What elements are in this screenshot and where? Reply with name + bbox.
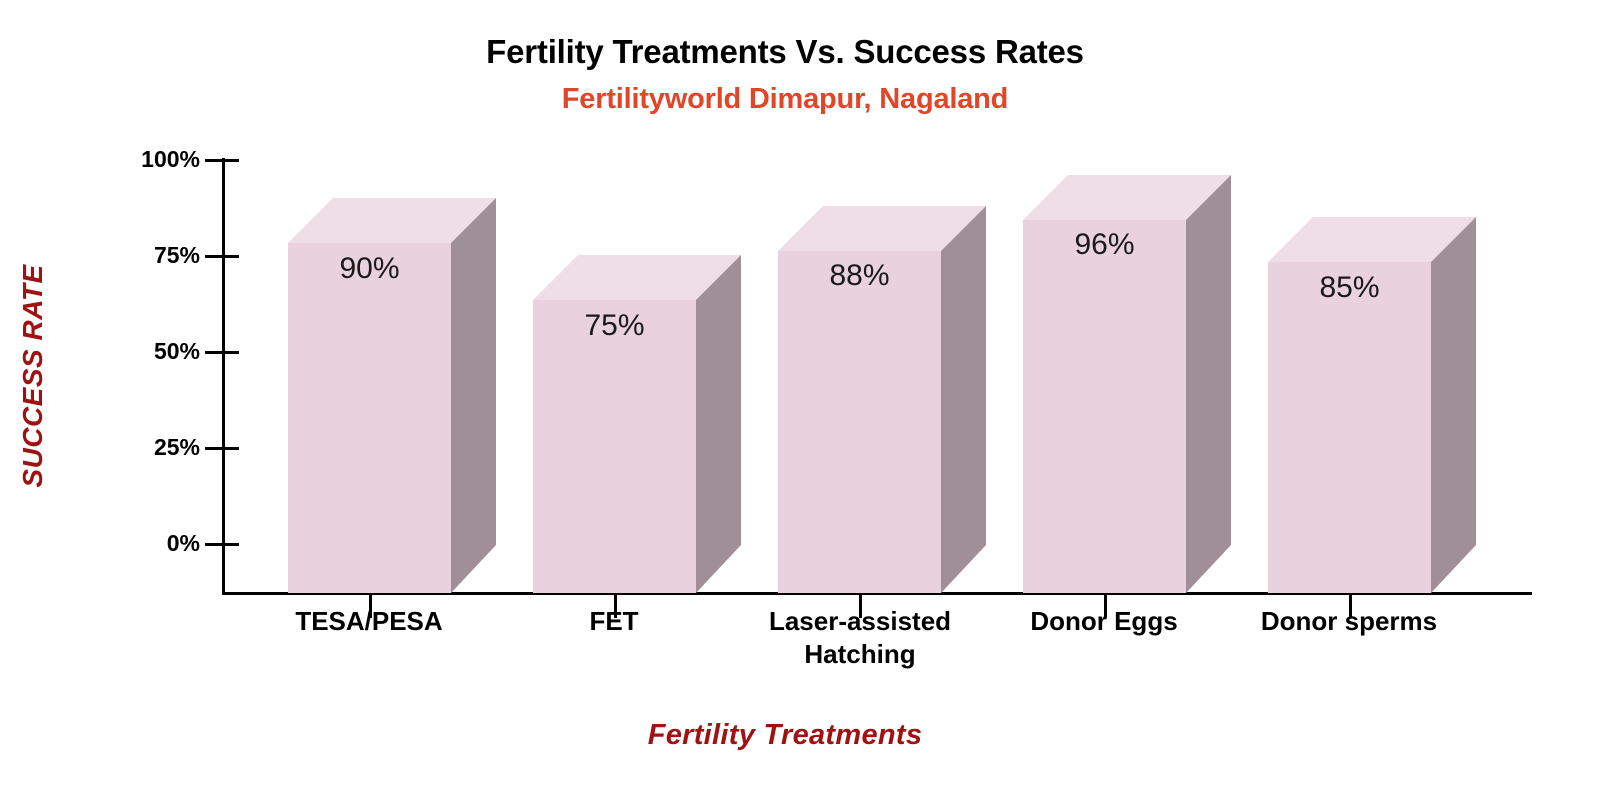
bar-value-3: 96%	[1023, 228, 1186, 262]
y-tick-label-100: 100%	[110, 146, 200, 173]
bar-value-0: 90%	[288, 252, 451, 286]
x-category-label-3: Donor Eggs	[984, 605, 1224, 638]
bar-value-1: 75%	[533, 309, 696, 343]
bar-group-4[interactable]	[1268, 150, 1508, 595]
bar-group-0[interactable]	[288, 150, 528, 595]
x-category-label-4: Donor sperms	[1229, 605, 1469, 638]
bar-group-1[interactable]	[533, 150, 773, 595]
y-tick-100	[205, 159, 239, 162]
x-category-label-2: Laser-assisted Hatching	[742, 605, 978, 671]
bar-value-4: 85%	[1268, 271, 1431, 305]
chart-subtitle: Fertilityworld Dimapur, Nagaland	[0, 83, 1570, 116]
y-tick-label-75: 75%	[110, 242, 200, 269]
y-tick-25	[205, 447, 239, 450]
bar-3d-shape-4	[1268, 150, 1508, 595]
bar-3d-shape-2	[778, 150, 1018, 595]
chart-root: Fertility Treatments Vs. Success Rates F…	[0, 0, 1600, 811]
y-tick-75	[205, 255, 239, 258]
bar-value-2: 88%	[778, 259, 941, 293]
bar-3d-shape-1	[533, 150, 773, 595]
bar-3d-shape-3	[1023, 150, 1263, 595]
y-tick-label-0: 0%	[110, 530, 200, 557]
y-axis-title: SUCCESS RATE	[17, 226, 49, 526]
y-tick-label-50: 50%	[110, 338, 200, 365]
x-axis-title: Fertility Treatments	[0, 719, 1570, 752]
bar-group-3[interactable]	[1023, 150, 1263, 595]
y-tick-label-25: 25%	[110, 434, 200, 461]
x-category-label-0: TESA/PESA	[249, 605, 489, 638]
y-axis-line	[222, 158, 225, 595]
bar-3d-shape-0	[288, 150, 528, 595]
x-category-label-1: FET	[494, 605, 734, 638]
chart-title: Fertility Treatments Vs. Success Rates	[0, 33, 1570, 71]
y-tick-0	[205, 543, 239, 546]
bar-group-2[interactable]	[778, 150, 1018, 595]
y-tick-50	[205, 351, 239, 354]
